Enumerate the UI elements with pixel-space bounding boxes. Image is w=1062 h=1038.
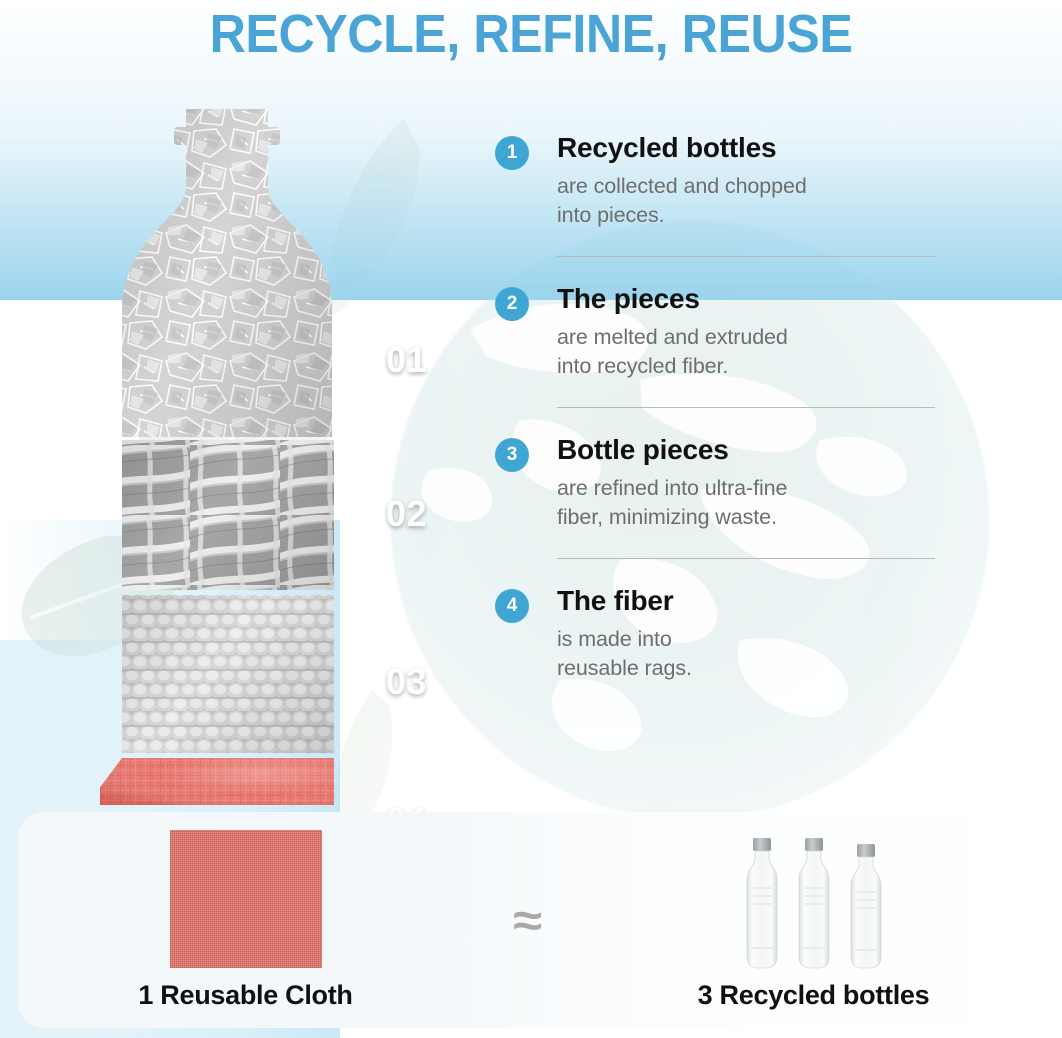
comparison-right: 3 Recycled bottles — [583, 830, 1044, 1011]
step-4-body: is made into reusable rags. — [557, 625, 935, 683]
step-2: 2 The pieces are melted and extruded int… — [495, 283, 935, 381]
step-3: 3 Bottle pieces are refined into ultra-f… — [495, 434, 935, 532]
cloth-swatch — [170, 830, 322, 968]
step-divider-1 — [557, 256, 935, 257]
recycled-bottles-group — [739, 830, 889, 970]
step-1-badge: 1 — [495, 136, 529, 170]
comparison-left: 1 Reusable Cloth — [18, 830, 473, 1011]
step-4-badge: 4 — [495, 589, 529, 623]
step-2-heading: The pieces — [557, 283, 935, 315]
infographic-root: RECYCLE, REFINE, REUSE — [0, 0, 1062, 1038]
step-1: 1 Recycled bottles are collected and cho… — [495, 132, 935, 230]
comparison-right-caption: 3 Recycled bottles — [698, 980, 930, 1011]
bottle-segment-01 — [100, 95, 420, 445]
step-divider-2 — [557, 407, 935, 408]
bottle-segment-02 — [100, 425, 420, 605]
step-1-body: are collected and chopped into pieces. — [557, 172, 935, 230]
steps-list: 1 Recycled bottles are collected and cho… — [495, 132, 935, 683]
mini-bottle-icon — [843, 836, 889, 970]
step-3-body: are refined into ultra-fine fiber, minim… — [557, 474, 935, 532]
bottle-diagram: 01 02 03 04 — [100, 95, 420, 805]
step-1-heading: Recycled bottles — [557, 132, 935, 164]
step-4-heading: The fiber — [557, 585, 935, 617]
step-2-body: are melted and extruded into recycled fi… — [557, 323, 935, 381]
bottle-silhouette — [100, 95, 420, 805]
comparison-equivalence: ≈ — [473, 897, 583, 943]
approximately-equal-icon: ≈ — [513, 897, 542, 943]
step-4: 4 The fiber is made into reusable rags. — [495, 585, 935, 683]
mini-bottle-icon — [739, 836, 785, 970]
bottle-segment-03 — [100, 585, 420, 765]
step-3-badge: 3 — [495, 438, 529, 472]
comparison-panel: 1 Reusable Cloth ≈ — [18, 812, 1044, 1028]
mini-bottle-icon — [791, 836, 837, 970]
step-3-heading: Bottle pieces — [557, 434, 935, 466]
step-2-badge: 2 — [495, 287, 529, 321]
step-divider-3 — [557, 558, 935, 559]
page-title: RECYCLE, REFINE, REUSE — [37, 4, 1025, 66]
comparison-left-caption: 1 Reusable Cloth — [138, 980, 352, 1011]
